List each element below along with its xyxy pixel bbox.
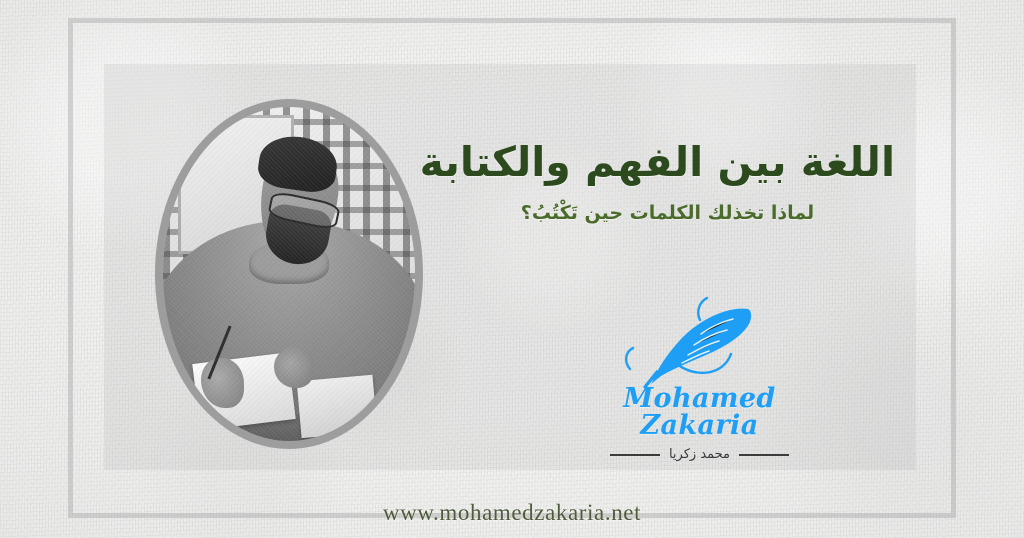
portrait-photo [163,107,415,441]
brand-logo-lockup: Mohamed Zakaria محمد زكريا [592,292,807,462]
page-title: اللغة بين الفهم والكتابة [440,138,895,186]
brand-arabic-row: محمد زكريا [592,447,807,462]
rule-right [739,454,789,456]
feather-quill-icon [592,292,807,389]
headline-block: اللغة بين الفهم والكتابة لماذا تخذلك الك… [440,138,895,224]
portrait-oval-frame [155,99,423,449]
brand-name-latin: Mohamed Zakaria [592,385,807,439]
photo-grain-overlay [163,107,415,441]
rule-left [610,454,660,456]
brand-name-arabic: محمد زكريا [669,447,730,462]
page-subtitle: لماذا تخذلك الكلمات حين تَكْتُبُ؟ [440,202,895,224]
banner-canvas: اللغة بين الفهم والكتابة لماذا تخذلك الك… [0,0,1024,538]
website-url[interactable]: www.mohamedzakaria.net [0,500,1024,526]
